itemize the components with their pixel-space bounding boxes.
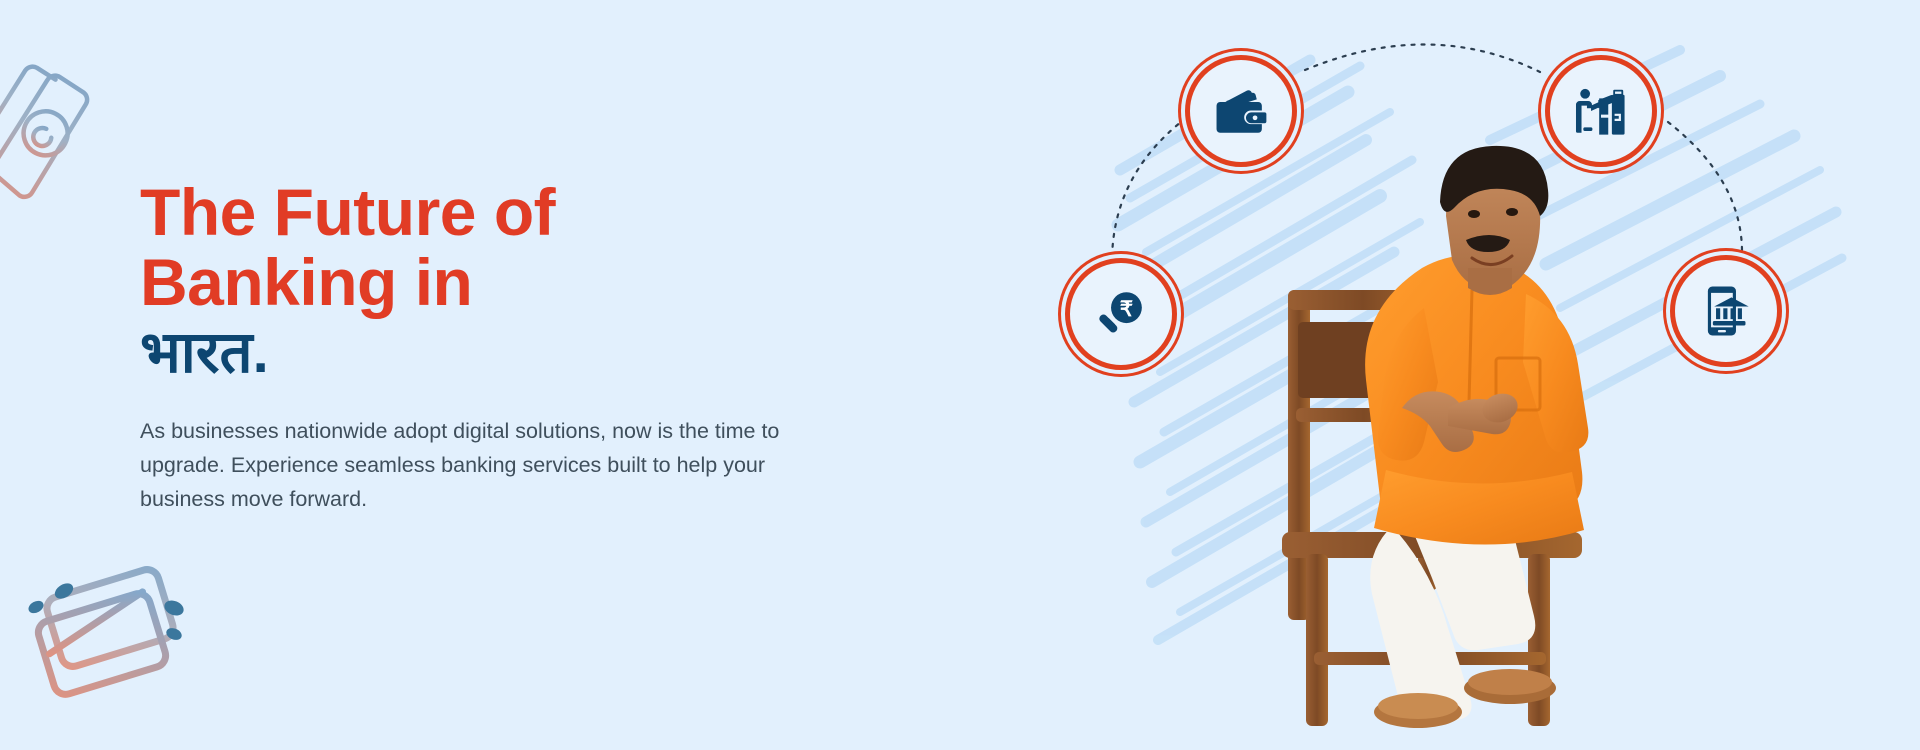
rupee-search-icon: ₹ <box>1092 285 1150 343</box>
wallet-outline-icon <box>0 8 154 222</box>
credit-cards-outline-icon <box>8 560 218 720</box>
hero-subcopy: As businesses nationwide adopt digital s… <box>140 415 785 517</box>
svg-text:₹: ₹ <box>1120 298 1133 321</box>
wallet-icon <box>1212 82 1270 140</box>
atm-icon <box>1572 82 1630 140</box>
hero-photo-man-on-chair <box>1210 140 1730 750</box>
page-title: The Future of Banking in भारत. <box>140 178 840 389</box>
headline-line-2: Banking in <box>140 248 840 318</box>
hero-copy: The Future of Banking in भारत. As busine… <box>140 178 840 517</box>
hero-visual: ₹ <box>1000 0 1920 750</box>
badge-rupee-search[interactable]: ₹ <box>1065 258 1177 370</box>
headline-line-3-native: भारत. <box>140 318 840 389</box>
headline-line-1: The Future of <box>140 178 840 248</box>
hero-banner: The Future of Banking in भारत. As busine… <box>0 0 1920 750</box>
